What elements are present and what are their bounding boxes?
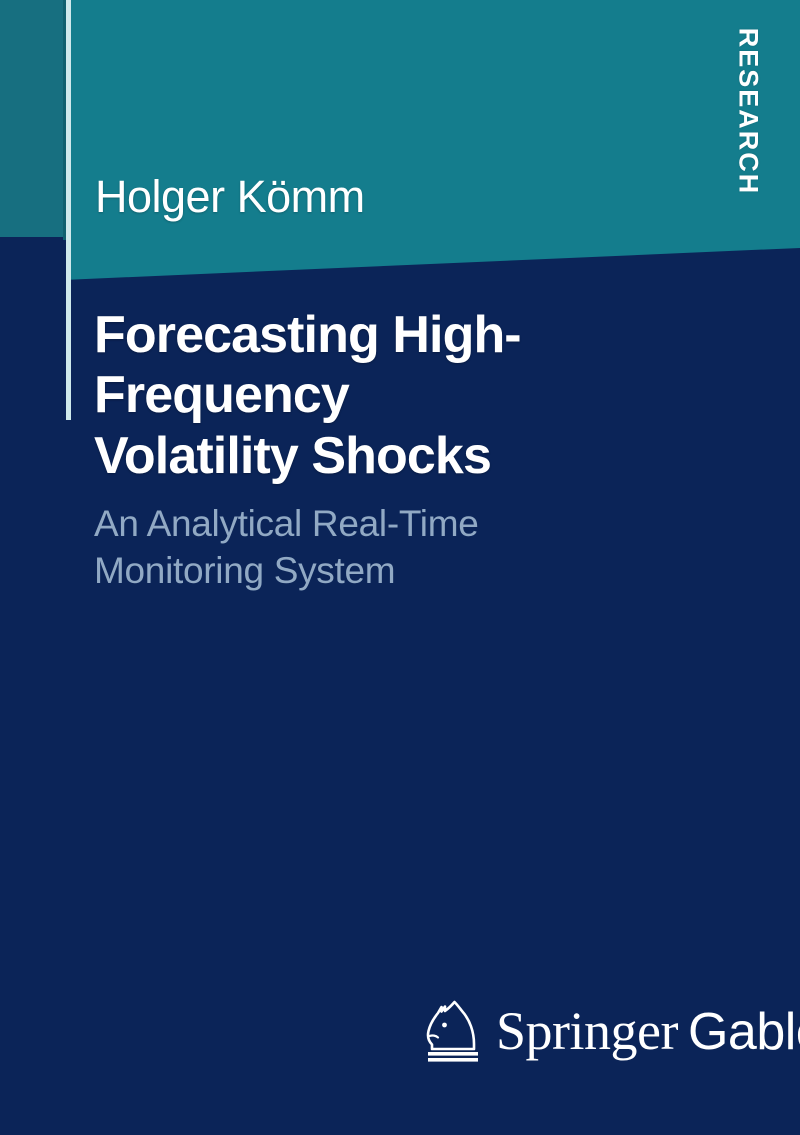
teal-band-right: [66, 0, 800, 290]
series-label: RESEARCH: [733, 28, 764, 196]
publisher-name: SpringerGabler: [496, 1004, 800, 1058]
book-title-line-1: Forecasting High-Frequency: [94, 305, 734, 426]
publisher-name-secondary: Gabler: [688, 1003, 800, 1061]
teal-band-left: [0, 0, 66, 237]
book-title-line-2: Volatility Shocks: [94, 426, 734, 486]
book-subtitle: An Analytical Real-Time Monitoring Syste…: [94, 500, 714, 595]
publisher-logo: SpringerGabler: [424, 995, 800, 1067]
author-name: Holger Kömm: [95, 174, 365, 219]
springer-knight-icon: [424, 999, 482, 1063]
publisher-name-primary: Springer: [496, 1001, 678, 1061]
book-title: Forecasting High-Frequency Volatility Sh…: [94, 305, 734, 486]
book-subtitle-line-1: An Analytical Real-Time: [94, 500, 714, 547]
vertical-rule: [66, 0, 71, 420]
book-cover: RESEARCH Holger Kömm Forecasting High-Fr…: [0, 0, 800, 1135]
book-subtitle-line-2: Monitoring System: [94, 547, 714, 594]
series-label-container: RESEARCH: [716, 14, 780, 214]
